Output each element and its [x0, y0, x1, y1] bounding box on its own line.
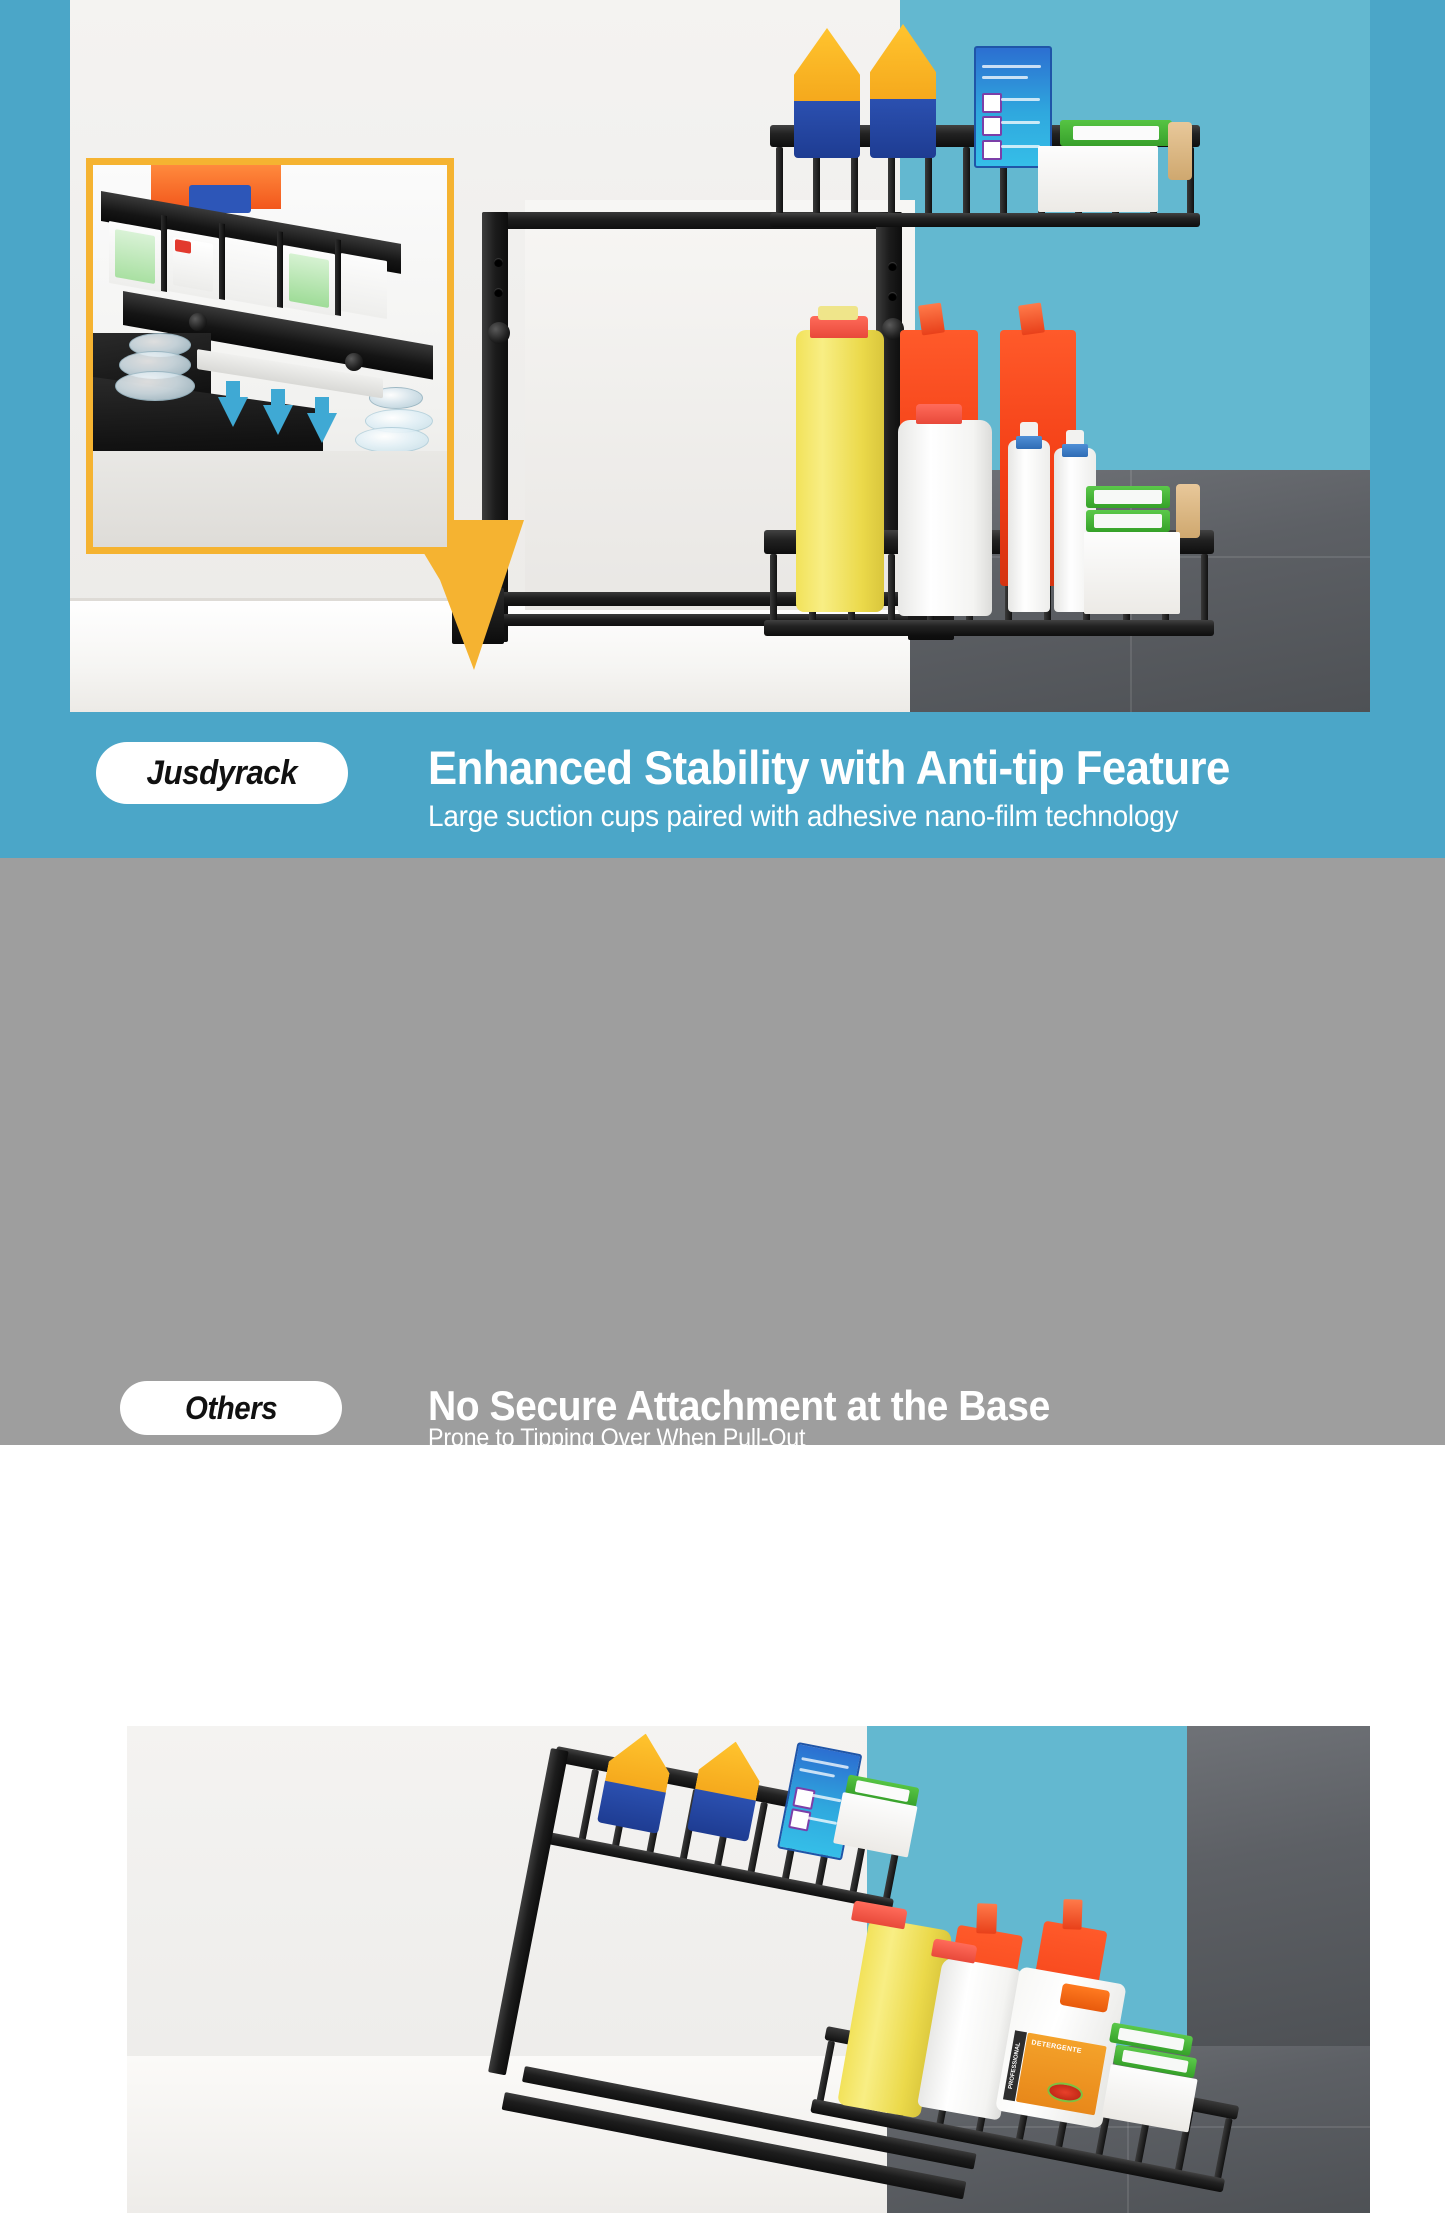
- suction-cup: [115, 371, 195, 401]
- post-hole-icon: [494, 288, 503, 297]
- bottom-headline: No Secure Attachment at the Base: [428, 1382, 1050, 1430]
- compartment: [225, 237, 277, 308]
- floor-back: [1187, 1726, 1370, 2046]
- post-hole-icon: [888, 292, 897, 301]
- jerrycan-label: DETERGENTE: [1016, 2033, 1107, 2116]
- jerrycan-handle: [1060, 1983, 1111, 2013]
- wood-roll: [1168, 122, 1192, 180]
- suction-cup-detail-callout: [86, 158, 454, 554]
- top-headline: Enhanced Stability with Anti-tip Feature: [428, 740, 1230, 795]
- white-box: [1084, 532, 1180, 614]
- green-wipe-box: [1086, 510, 1170, 532]
- bottom-subline: Prone to Tipping Over When Pull-Out: [428, 1424, 805, 1453]
- suction-arrow-icon: [218, 397, 248, 427]
- pod-red-mark: [175, 239, 191, 254]
- adjustment-knob: [345, 353, 363, 371]
- jerrycan-seal: [1046, 2079, 1085, 2104]
- suction-cup-ghost: [355, 427, 429, 453]
- adjustment-knob: [488, 322, 510, 344]
- green-container: [1060, 120, 1172, 146]
- post-hole-icon: [494, 258, 503, 267]
- infographic-page: Jusdyrack Enhanced Stability with Anti-t…: [0, 0, 1445, 1445]
- jerrycan-label-text: DETERGENTE: [1031, 2039, 1082, 2055]
- suction-arrow-icon: [307, 413, 337, 443]
- brand-badge-jusdyrack: Jusdyrack: [96, 742, 348, 804]
- bottom-comparison-panel: PROFESSIONAL DETERGENTE Others No Secure…: [0, 858, 1445, 1445]
- countertop: [127, 2056, 887, 2213]
- white-jug: [898, 420, 992, 616]
- brand-badge-others: Others: [120, 1381, 342, 1435]
- adjustment-knob: [189, 313, 207, 331]
- top-subline: Large suction cups paired with adhesive …: [428, 800, 1178, 834]
- lower-basket-bottom: [764, 620, 1214, 636]
- post-hole-icon: [888, 262, 897, 271]
- detergent-pod: [115, 229, 155, 284]
- suction-arrow-icon: [263, 405, 293, 435]
- callout-floor: [93, 451, 447, 547]
- jug-cap: [916, 404, 962, 424]
- green-wipe-box: [1086, 486, 1170, 508]
- white-box: [1038, 146, 1158, 212]
- top-comparison-panel: Jusdyrack Enhanced Stability with Anti-t…: [0, 0, 1445, 858]
- brand-badge-label: Others: [185, 1390, 277, 1427]
- product-photo-others: PROFESSIONAL DETERGENTE: [127, 1726, 1370, 2213]
- detergent-pouch: [794, 28, 860, 158]
- compartment: [341, 253, 387, 319]
- bottle-neck: [818, 306, 858, 320]
- yellow-bottle: [796, 330, 884, 612]
- wood-roll: [1176, 484, 1200, 538]
- brand-badge-label: Jusdyrack: [147, 754, 298, 793]
- spray-bottle: [1008, 440, 1050, 612]
- detergent-pod: [289, 253, 329, 308]
- upper-basket-bottom: [770, 213, 1200, 227]
- detergent-pouch: [870, 24, 936, 158]
